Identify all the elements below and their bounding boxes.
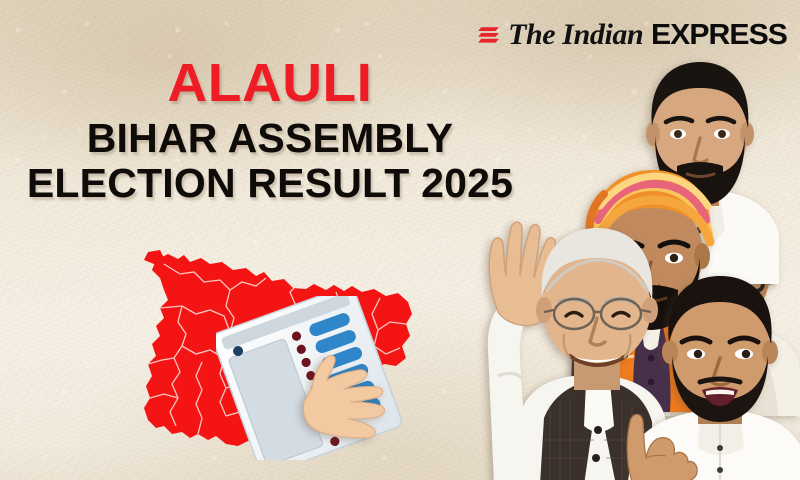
person-tejashwi-yadav <box>622 272 800 480</box>
election-result-poster: The IndianEXPRESS ALAULI BIHAR ASSEMBLY … <box>0 0 800 480</box>
indian-express-stripes-icon <box>478 22 502 48</box>
bihar-map-graphic <box>138 248 416 460</box>
masthead-express: EXPRESS <box>651 21 787 50</box>
masthead-logo[interactable]: The IndianEXPRESS <box>478 20 782 50</box>
headline-block: ALAULI BIHAR ASSEMBLY ELECTION RESULT 20… <box>0 58 540 205</box>
evm-ballot-unit-icon <box>216 296 416 460</box>
headline-line-2: BIHAR ASSEMBLY <box>0 116 540 160</box>
masthead-the-indian: The Indian <box>508 20 643 50</box>
headline-line-3: ELECTION RESULT 2025 <box>0 161 540 205</box>
constituency-name: ALAULI <box>0 58 545 110</box>
